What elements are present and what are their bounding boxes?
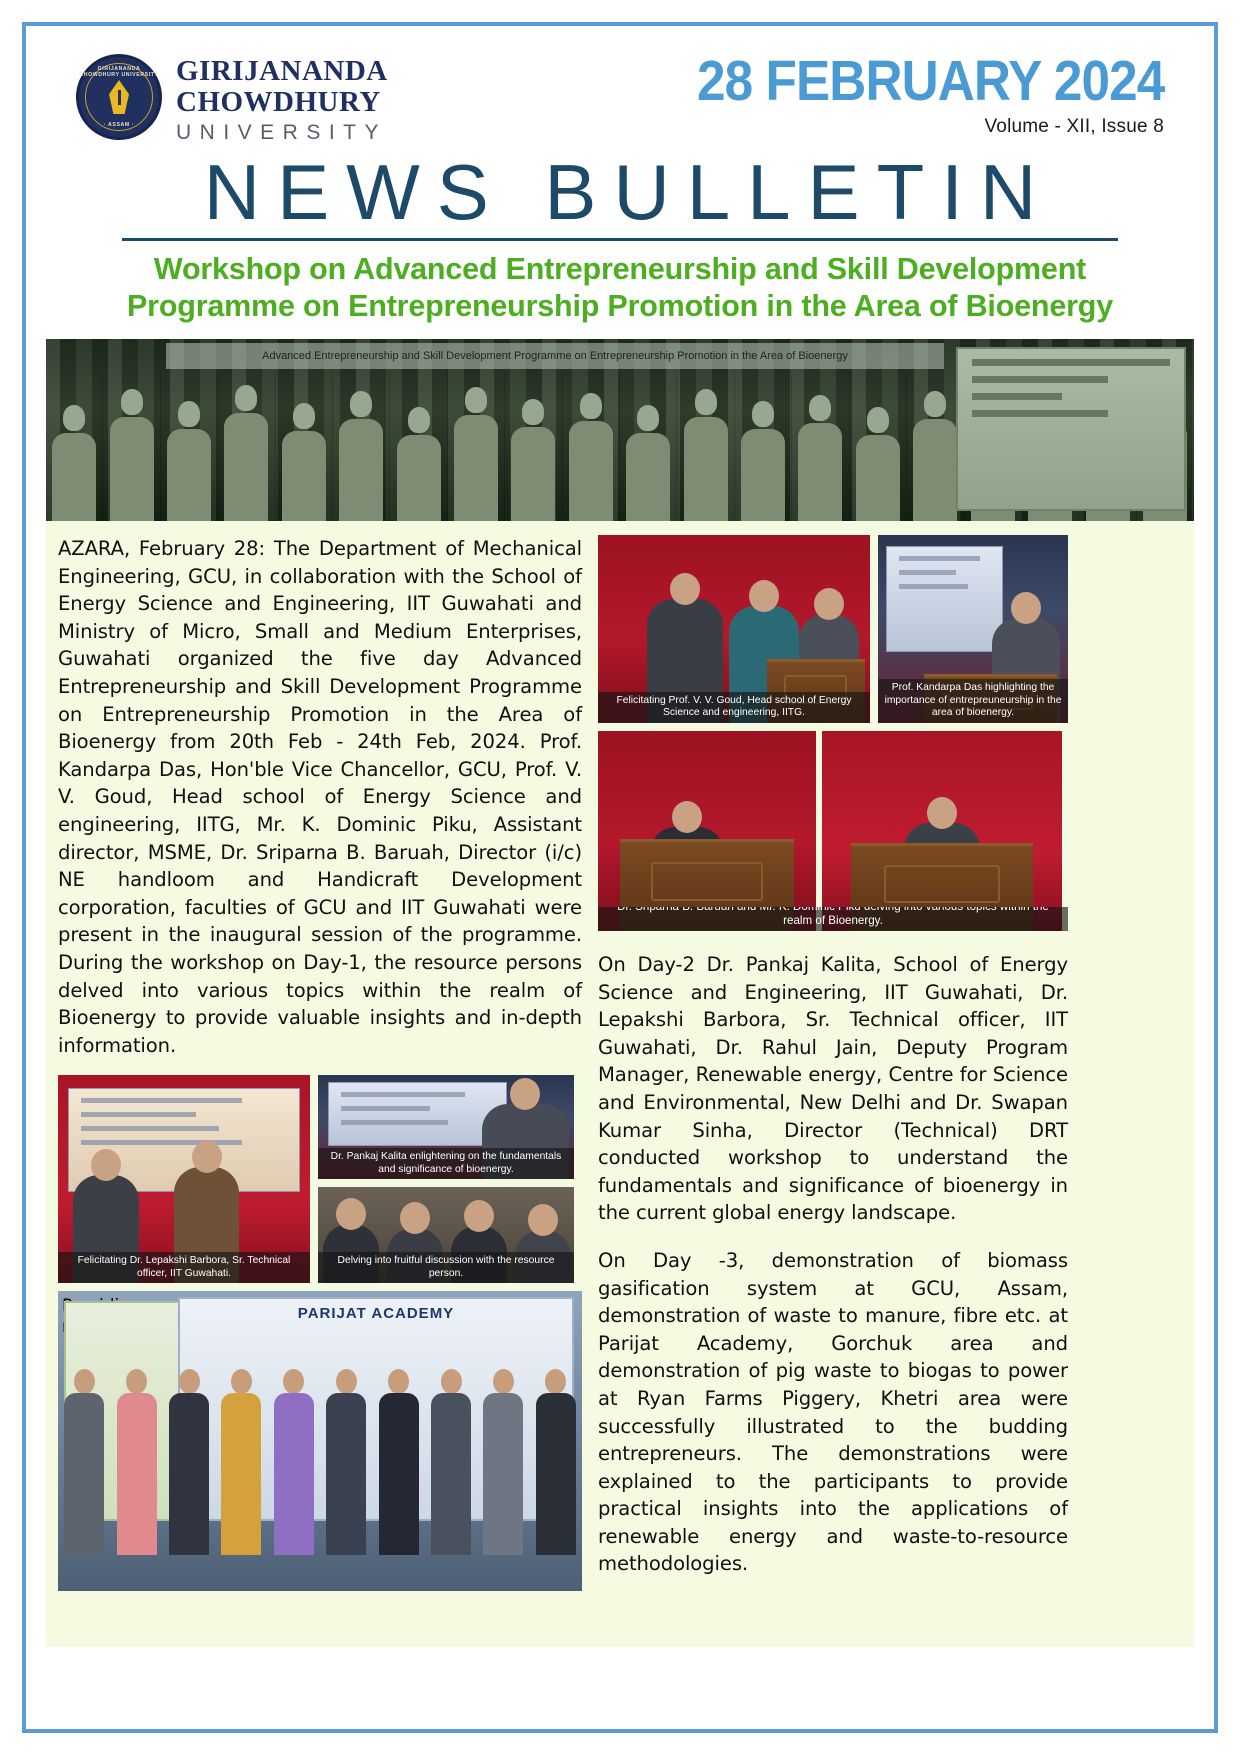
top-photo-row: Felicitating Prof. V. V. Goud, Head scho…: [598, 535, 1068, 723]
poster-line: [81, 1112, 196, 1117]
issue-date: 28 FEBRUARY 2024: [697, 52, 1164, 110]
university-name: GIRIJANANDA CHOWDHURY UNIVERSITY: [176, 48, 388, 148]
photo-caption: Prof. Kandarpa Das highlighting the impo…: [878, 679, 1068, 723]
poster-line: [81, 1140, 242, 1145]
group-person: [58, 1365, 110, 1555]
page-border-frame: GIRIJANANDA CHOWDHURY UNIVERSITY · ASSAM…: [22, 22, 1218, 1733]
right-sub-photos: Dr. Pankaj Kalita enlightening on the fu…: [318, 1075, 574, 1283]
slide-line: [341, 1092, 465, 1097]
university-name-line1: GIRIJANANDA: [176, 56, 388, 87]
parijat-sign-text: PARIJAT ACADEMY: [180, 1299, 572, 1322]
photo-caption: Felicitating Prof. V. V. Goud, Head scho…: [598, 692, 870, 723]
hero-group-photo: Advanced Entrepreneurship and Skill Deve…: [46, 339, 1194, 521]
group-person: [320, 1365, 372, 1555]
photo-kandarpa-das: Prof. Kandarpa Das highlighting the impo…: [878, 535, 1068, 723]
photo-parijat-academy: PARIJAT ACADEMY Providing p: [58, 1291, 582, 1591]
university-seal-icon: GIRIJANANDA CHOWDHURY UNIVERSITY · ASSAM…: [76, 54, 162, 140]
content-area: AZARA, February 28: The Department of Me…: [46, 521, 1194, 1647]
slide-line: [341, 1106, 430, 1111]
page-inner: GIRIJANANDA CHOWDHURY UNIVERSITY · ASSAM…: [36, 36, 1204, 1719]
seal-bottom-text: · ASSAM ·: [79, 122, 159, 128]
group-person: [268, 1365, 320, 1555]
volume-issue: Volume - XII, Issue 8: [645, 116, 1164, 138]
photo-caption: Delving into fruitful discussion with th…: [318, 1252, 574, 1283]
article-paragraph-1: AZARA, February 28: The Department of Me…: [58, 535, 582, 1059]
hero-tint-overlay: [46, 339, 1194, 521]
second-photo-row: [598, 731, 1068, 931]
group-person: [110, 1365, 162, 1555]
brand-row: GIRIJANANDA CHOWDHURY UNIVERSITY · ASSAM…: [76, 48, 1164, 148]
photo-discussion: Delving into fruitful discussion with th…: [318, 1187, 574, 1283]
slide-line: [899, 556, 980, 561]
group-person: [425, 1365, 477, 1555]
photo-sriparna-baruah: [598, 731, 816, 931]
parijat-group: [58, 1365, 582, 1555]
photo-pankaj-kalita: Dr. Pankaj Kalita enlightening on the fu…: [318, 1075, 574, 1179]
university-name-line2: CHOWDHURY: [176, 87, 388, 118]
article-paragraph-2: On Day-2 Dr. Pankaj Kalita, School of En…: [598, 951, 1068, 1227]
slide-line: [341, 1120, 447, 1125]
poster-line: [81, 1098, 242, 1103]
page-title: NEWS BULLETIN: [76, 150, 1164, 234]
newsletter-page: GIRIJANANDA CHOWDHURY UNIVERSITY · ASSAM…: [0, 0, 1240, 1755]
date-block: 28 FEBRUARY 2024 Volume - XII, Issue 8: [645, 48, 1164, 138]
photo-caption: Dr. Pankaj Kalita enlightening on the fu…: [318, 1148, 574, 1179]
photo-caption: Felicitating Dr. Lepakshi Barbora, Sr. T…: [58, 1252, 310, 1283]
photo-caption: Dr. Sriparna B. Baruah and Mr. K. Domini…: [598, 907, 1068, 931]
university-logo: GIRIJANANDA CHOWDHURY UNIVERSITY · ASSAM…: [76, 48, 176, 140]
group-person: [163, 1365, 215, 1555]
group-person: [530, 1365, 582, 1555]
group-person: [215, 1365, 267, 1555]
seal-top-text: GIRIJANANDA CHOWDHURY UNIVERSITY: [79, 66, 159, 78]
caption-bar-baruah-piku: Dr. Sriparna B. Baruah and Mr. K. Domini…: [598, 907, 1068, 931]
slide-line: [899, 584, 968, 589]
group-person: [477, 1365, 529, 1555]
masthead: GIRIJANANDA CHOWDHURY UNIVERSITY · ASSAM…: [36, 36, 1204, 325]
columns: AZARA, February 28: The Department of Me…: [58, 535, 1182, 1591]
left-column: AZARA, February 28: The Department of Me…: [58, 535, 582, 1591]
article-paragraph-3: On Day -3, demonstration of biomass gasi…: [598, 1247, 1068, 1578]
right-column: Felicitating Prof. V. V. Goud, Head scho…: [598, 535, 1068, 1591]
left-photo-grid: Felicitating Dr. Lepakshi Barbora, Sr. T…: [58, 1075, 582, 1283]
university-name-line3: UNIVERSITY: [176, 118, 388, 148]
photo-felicitation-goud: Felicitating Prof. V. V. Goud, Head scho…: [598, 535, 870, 723]
poster-line: [81, 1126, 219, 1131]
page-subtitle: Workshop on Advanced Entrepreneurship an…: [76, 241, 1164, 325]
slide-line: [899, 570, 957, 575]
group-person: [372, 1365, 424, 1555]
photo-lepakshi-barbora: Felicitating Dr. Lepakshi Barbora, Sr. T…: [58, 1075, 310, 1283]
photo-dominic-piku: [822, 731, 1062, 931]
